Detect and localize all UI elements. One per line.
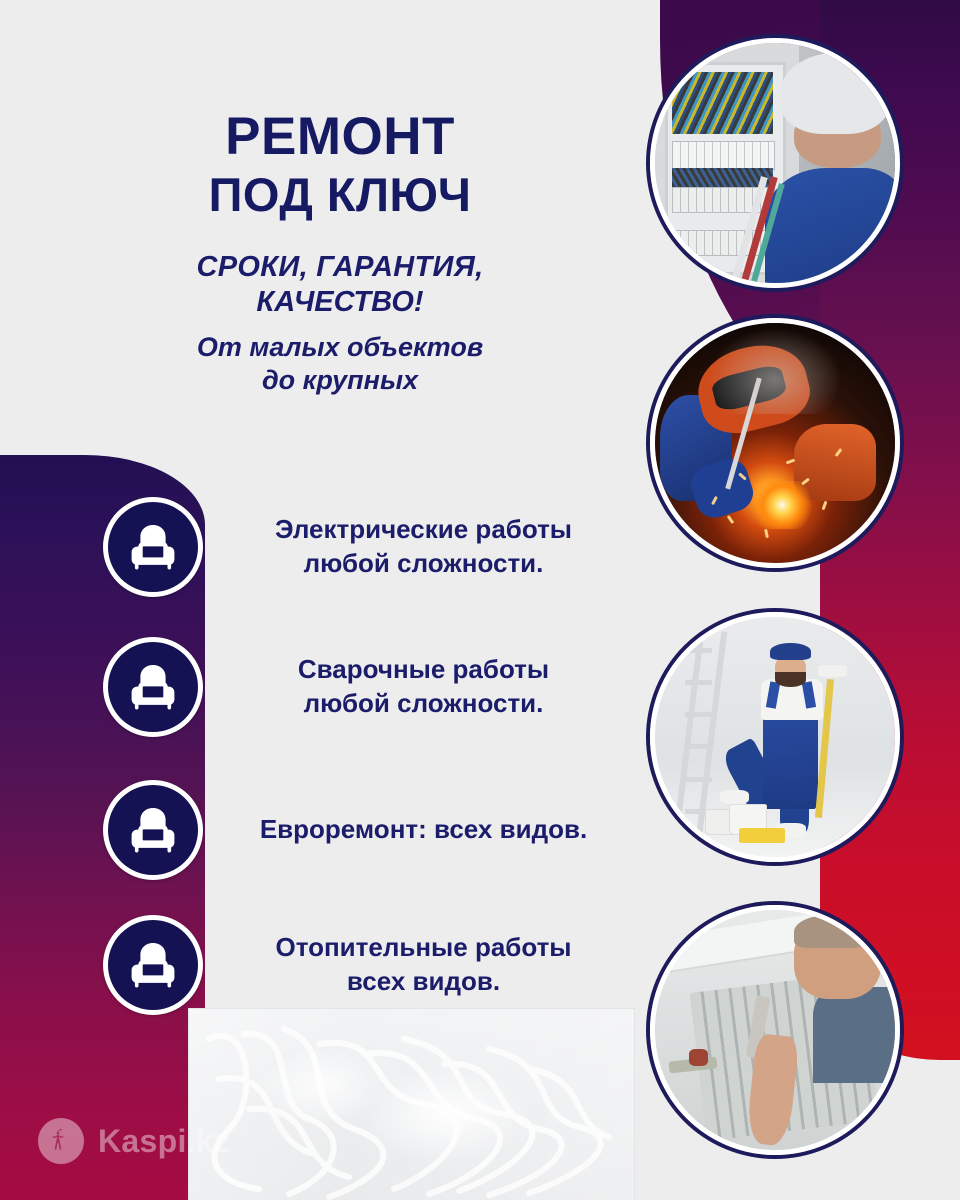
armchair-icon [103,780,203,880]
photo-radiator [650,905,900,1155]
photo-electrical-panel [650,38,900,288]
service-label: Отопительные работы всех видов. [225,931,622,999]
headline-line-1: РЕМОНТ [60,109,620,164]
page-title: РЕМОНТ ПОД КЛЮЧ [60,109,620,219]
subheadline-line-4: до крупных [60,364,620,397]
list-item: Электрические работы любой сложности. [0,492,640,602]
subheadline-line-3: От малых объектов [60,331,620,364]
subheadline-line-2: КАЧЕСТВО! [60,285,620,320]
service-label: Сварочные работы любой сложности. [225,653,622,721]
photo-painter [650,612,900,862]
armchair-icon [103,915,203,1015]
subheadline-line-1: СРОКИ, ГАРАНТИЯ, [60,250,620,285]
photo-welding [650,318,900,568]
list-item: Евроремонт: всех видов. [0,775,640,885]
promo-poster: РЕМОНТ ПОД КЛЮЧ СРОКИ, ГАРАНТИЯ, КАЧЕСТВ… [0,0,960,1200]
armchair-icon [103,637,203,737]
headline-line-2: ПОД КЛЮЧ [60,171,620,220]
service-label: Евроремонт: всех видов. [225,813,622,847]
subheadline: СРОКИ, ГАРАНТИЯ, КАЧЕСТВО! От малых объе… [60,250,620,397]
service-label: Электрические работы любой сложности. [225,513,622,581]
armchair-icon [103,497,203,597]
list-item: Сварочные работы любой сложности. [0,632,640,742]
photo-white-cables [188,1008,635,1200]
list-item: Отопительные работы всех видов. [0,910,640,1020]
